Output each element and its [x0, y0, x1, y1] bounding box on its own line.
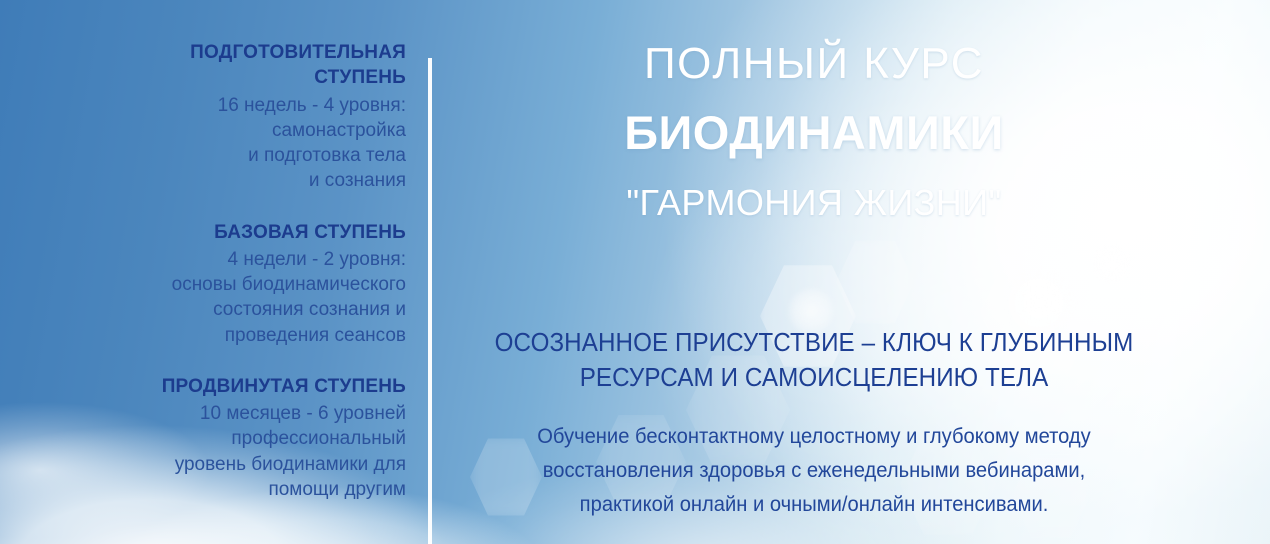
stage-description: 16 недель - 4 уровня:самонастройкаи подг… [0, 93, 406, 194]
stage-description: 4 недели - 2 уровня:основы биодинамическ… [0, 247, 406, 348]
stage-item-basic: БАЗОВАЯ СТУПЕНЬ 4 недели - 2 уровня:осно… [0, 220, 406, 348]
stage-title: БАЗОВАЯ СТУПЕНЬ [0, 220, 406, 245]
tagline: ОСОЗНАННОЕ ПРИСУТСТВИЕ – КЛЮЧ К ГЛУБИННЫ… [468, 325, 1160, 394]
hero-title-group: ПОЛНЫЙ КУРС БИОДИНАМИКИ "ГАРМОНИЯ ЖИЗНИ" [434, 40, 1194, 222]
body-copy: Обучение бесконтактному целостному и глу… [457, 420, 1171, 522]
course-stages-list: ПОДГОТОВИТЕЛЬНАЯСТУПЕНЬ 16 недель - 4 ур… [0, 40, 406, 502]
stage-item-advanced: ПРОДВИНУТАЯ СТУПЕНЬ 10 месяцев - 6 уровн… [0, 374, 406, 502]
stage-title: ПОДГОТОВИТЕЛЬНАЯСТУПЕНЬ [0, 40, 406, 91]
stage-title: ПРОДВИНУТАЯ СТУПЕНЬ [0, 374, 406, 399]
body-copy-line: восстановления здоровья с еженедельными … [457, 454, 1171, 488]
page-title: БИОДИНАМИКИ [434, 108, 1194, 157]
stage-item-preparatory: ПОДГОТОВИТЕЛЬНАЯСТУПЕНЬ 16 недель - 4 ур… [0, 40, 406, 194]
poster-canvas: ПОДГОТОВИТЕЛЬНАЯСТУПЕНЬ 16 недель - 4 ур… [0, 0, 1270, 544]
body-copy-line: практикой онлайн и очными/онлайн интенси… [457, 488, 1171, 522]
body-copy-line: Обучение бесконтактному целостному и глу… [457, 420, 1171, 454]
hero-panel: ПОЛНЫЙ КУРС БИОДИНАМИКИ "ГАРМОНИЯ ЖИЗНИ"… [434, 0, 1270, 544]
hero-subtitle: "ГАРМОНИЯ ЖИЗНИ" [434, 183, 1194, 223]
hero-kicker: ПОЛНЫЙ КУРС [434, 40, 1194, 88]
vertical-divider [428, 58, 432, 544]
stage-description: 10 месяцев - 6 уровнейпрофессиональныйур… [0, 401, 406, 502]
